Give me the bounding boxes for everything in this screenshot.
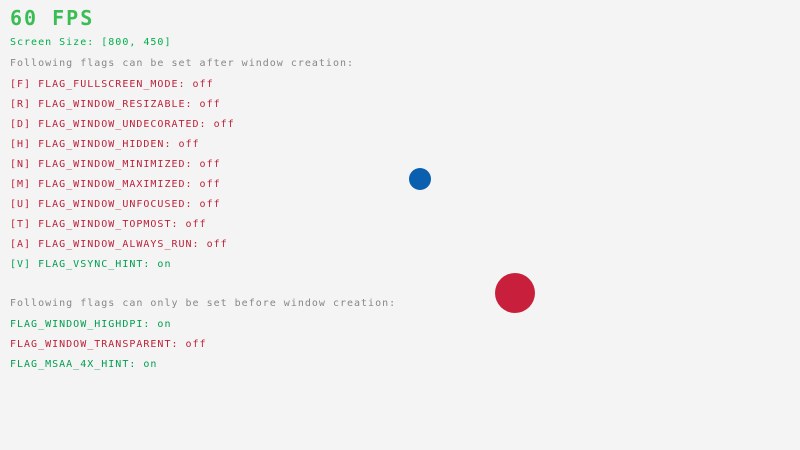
screen-size-label: Screen Size: [800, 450] xyxy=(10,38,171,48)
fps-counter: 60 FPS xyxy=(10,8,94,28)
flag-row-before-3[interactable]: FLAG_MSAA_4X_HINT: on xyxy=(10,360,157,370)
section-header-after-creation: Following flags can be set after window … xyxy=(10,59,354,69)
flag-row-after-4[interactable]: [H] FLAG_WINDOW_HIDDEN: off xyxy=(10,140,200,150)
flag-row-after-6[interactable]: [M] FLAG_WINDOW_MAXIMIZED: off xyxy=(10,180,221,190)
red-circle xyxy=(495,273,535,313)
flag-row-after-10[interactable]: [V] FLAG_VSYNC_HINT: on xyxy=(10,260,171,270)
flag-row-before-1[interactable]: FLAG_WINDOW_HIGHDPI: on xyxy=(10,320,171,330)
flag-row-after-9[interactable]: [A] FLAG_WINDOW_ALWAYS_RUN: off xyxy=(10,240,228,250)
flag-row-after-3[interactable]: [D] FLAG_WINDOW_UNDECORATED: off xyxy=(10,120,235,130)
blue-circle xyxy=(409,168,431,190)
flag-row-after-1[interactable]: [F] FLAG_FULLSCREEN_MODE: off xyxy=(10,80,214,90)
raylib-window-canvas[interactable]: 60 FPS Screen Size: [800, 450] Following… xyxy=(0,0,800,450)
flag-row-after-7[interactable]: [U] FLAG_WINDOW_UNFOCUSED: off xyxy=(10,200,221,210)
flag-row-before-2[interactable]: FLAG_WINDOW_TRANSPARENT: off xyxy=(10,340,207,350)
flag-row-after-5[interactable]: [N] FLAG_WINDOW_MINIMIZED: off xyxy=(10,160,221,170)
flag-row-after-8[interactable]: [T] FLAG_WINDOW_TOPMOST: off xyxy=(10,220,207,230)
section-header-before-creation: Following flags can only be set before w… xyxy=(10,299,396,309)
flag-row-after-2[interactable]: [R] FLAG_WINDOW_RESIZABLE: off xyxy=(10,100,221,110)
